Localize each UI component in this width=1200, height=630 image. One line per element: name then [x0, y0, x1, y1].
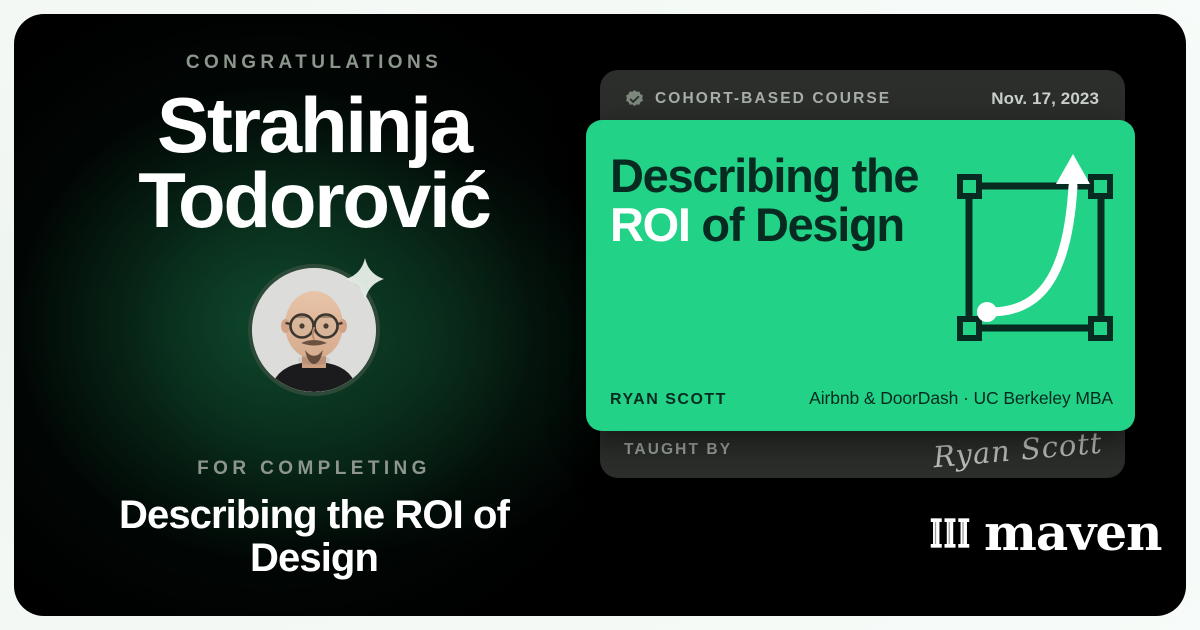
avatar	[248, 264, 380, 396]
maven-wordmark: maven	[984, 508, 1162, 558]
for-completing-label: FOR COMPLETING	[197, 458, 431, 480]
course-title-highlight: ROI	[610, 198, 690, 251]
recipient-section: CONGRATULATIONS Strahinja Todorović	[14, 0, 614, 602]
course-cover-title: Describing the ROI of Design	[610, 152, 940, 250]
maven-logo: maven	[928, 508, 1162, 558]
maven-columns-icon	[928, 511, 972, 555]
course-card-stack: COHORT-BASED COURSE Nov. 17, 2023 TAUGHT…	[586, 56, 1146, 496]
course-title-part-2: of Design	[690, 198, 904, 251]
completed-course-title: Describing the ROI of Design	[54, 494, 574, 580]
course-type-tag: COHORT-BASED COURSE	[655, 90, 891, 108]
instructor-signature: Ryan Scott	[932, 428, 1104, 472]
certificate-canvas: CONGRATULATIONS Strahinja Todorović	[0, 0, 1200, 630]
growth-curve-bounding-box-icon	[955, 152, 1115, 352]
course-title-part-1: Describing the	[610, 149, 918, 202]
taught-by-label: TAUGHT BY	[624, 441, 732, 459]
course-cover-card: Describing the ROI of Design	[586, 120, 1135, 431]
instructor-credentials: Airbnb & DoorDash · UC Berkeley MBA	[809, 388, 1113, 409]
recipient-name: Strahinja Todorović	[34, 88, 594, 238]
course-cover-footer: RYAN SCOTT Airbnb & DoorDash · UC Berkel…	[610, 388, 1113, 409]
instructor-name: RYAN SCOTT	[610, 391, 727, 409]
course-date: Nov. 17, 2023	[991, 89, 1099, 109]
verified-badge-icon	[624, 89, 645, 110]
congratulations-label: CONGRATULATIONS	[186, 52, 442, 74]
avatar-photo	[252, 268, 376, 392]
avatar-ring	[248, 264, 380, 396]
